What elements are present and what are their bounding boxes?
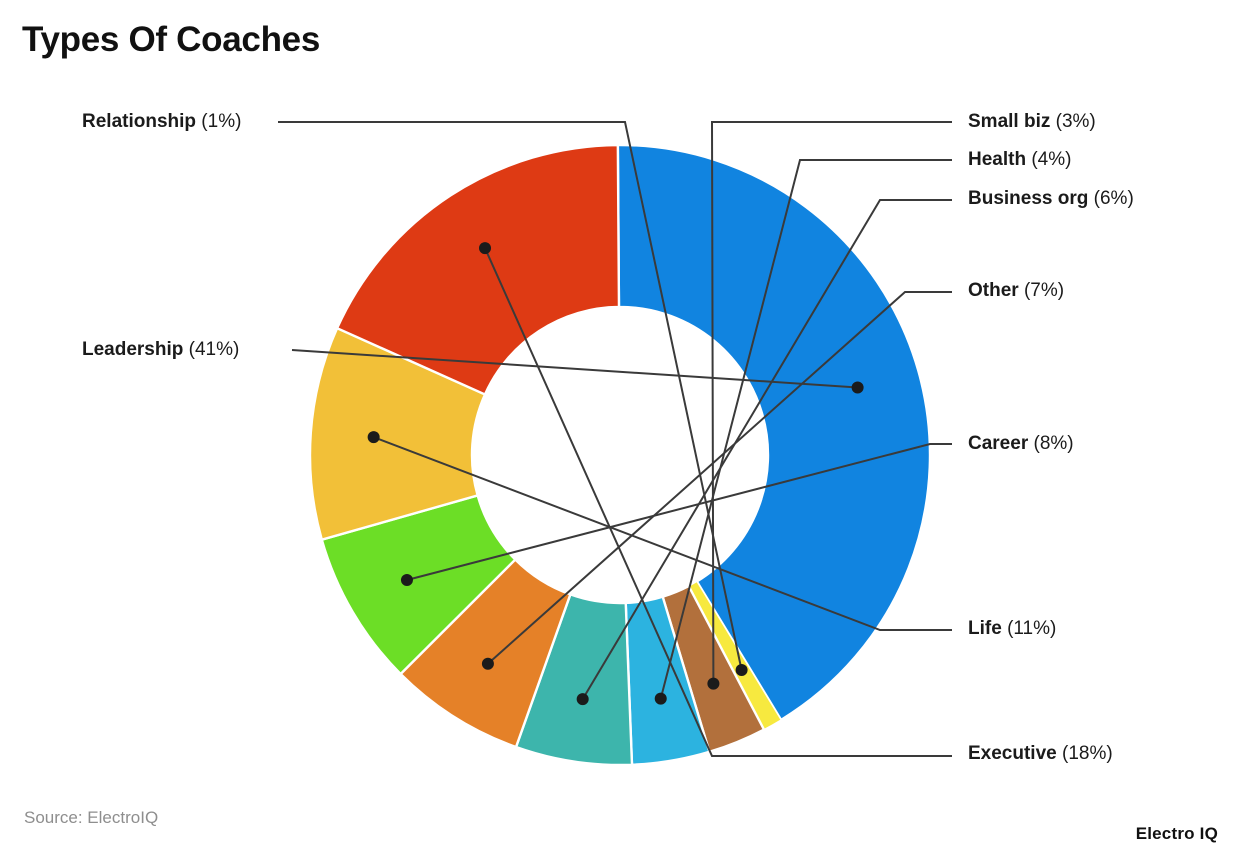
leader-dot-career	[401, 574, 413, 586]
leader-dot-executive	[479, 242, 491, 254]
callout-label-other: Other (7%)	[968, 281, 1064, 300]
callout-name-leadership: Leadership	[82, 339, 183, 360]
chart-page: Types Of Coaches Relationship (1%) Leade…	[0, 0, 1240, 856]
callout-name-career: Career	[968, 433, 1028, 454]
callout-name-other: Other	[968, 280, 1019, 301]
callout-pct-business-org: (6%)	[1094, 188, 1134, 209]
callout-pct-small-biz: (3%)	[1056, 111, 1096, 132]
callout-label-health: Health (4%)	[968, 150, 1071, 169]
callout-name-small-biz: Small biz	[968, 111, 1050, 132]
callout-label-career: Career (8%)	[968, 434, 1074, 453]
callout-label-small-biz: Small biz (3%)	[968, 112, 1096, 131]
leader-dot-life	[368, 431, 380, 443]
donut-slices[interactable]	[310, 145, 930, 765]
source-note: Source: ElectroIQ	[24, 808, 158, 828]
callout-pct-executive: (18%)	[1062, 743, 1113, 764]
callout-label-relationship: Relationship (1%)	[82, 112, 241, 131]
leader-dot-small-biz	[707, 678, 719, 690]
leader-dot-business-org	[577, 693, 589, 705]
leader-dot-health	[655, 693, 667, 705]
callout-name-executive: Executive	[968, 743, 1057, 764]
callout-name-business-org: Business org	[968, 188, 1088, 209]
callout-pct-health: (4%)	[1031, 149, 1071, 170]
callout-name-life: Life	[968, 618, 1002, 639]
leader-dot-other	[482, 658, 494, 670]
callout-name-relationship: Relationship	[82, 111, 196, 132]
leader-dot-leadership	[852, 382, 864, 394]
callout-pct-other: (7%)	[1024, 280, 1064, 301]
callout-name-health: Health	[968, 149, 1026, 170]
callout-label-life: Life (11%)	[968, 619, 1056, 638]
brand-logo: Electro IQ	[1136, 824, 1218, 844]
leader-dot-relationship	[736, 664, 748, 676]
callout-label-executive: Executive (18%)	[968, 744, 1113, 763]
callout-pct-relationship: (1%)	[201, 111, 241, 132]
callout-pct-leadership: (41%)	[189, 339, 240, 360]
callout-label-leadership: Leadership (41%)	[82, 340, 239, 359]
callout-pct-career: (8%)	[1034, 433, 1074, 454]
callout-pct-life: (11%)	[1007, 618, 1056, 639]
callout-label-business-org: Business org (6%)	[968, 189, 1134, 208]
